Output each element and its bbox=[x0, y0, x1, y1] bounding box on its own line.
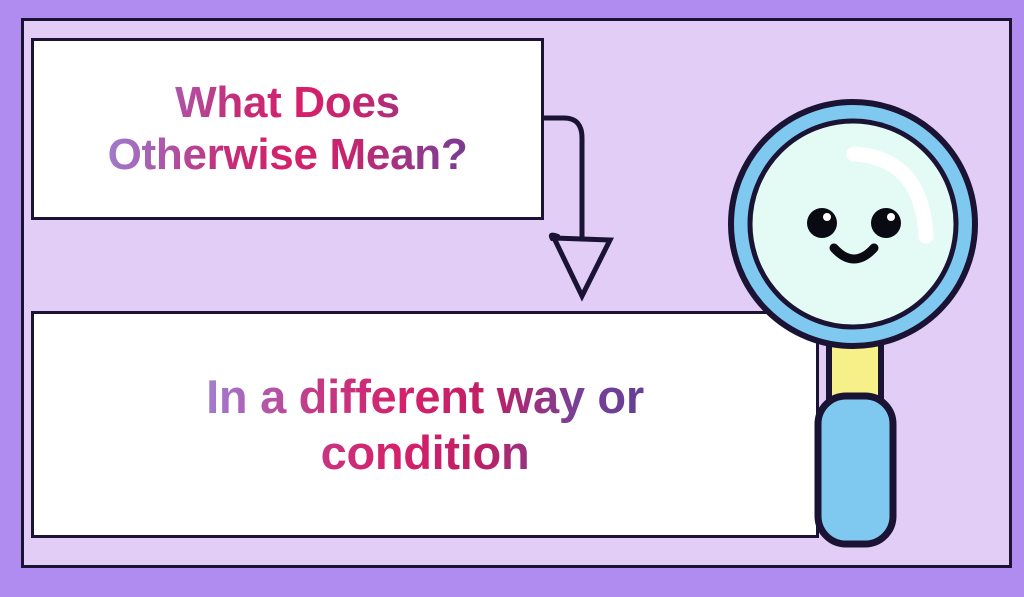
answer-card: In a different way or condition bbox=[31, 311, 819, 538]
question-line-2: Otherwise Mean? bbox=[108, 130, 468, 179]
infographic-canvas: In a different way or condition What Doe… bbox=[0, 0, 1024, 597]
right-eye-icon bbox=[871, 208, 901, 238]
arrow-head bbox=[554, 238, 610, 296]
handle-grip bbox=[818, 396, 893, 544]
left-eye-icon bbox=[807, 208, 837, 238]
magnifying-glass-smiling-face-icon bbox=[726, 96, 988, 548]
question-card: What Does Otherwise Mean? bbox=[31, 38, 544, 220]
right-eye-highlight bbox=[887, 213, 895, 221]
answer-line-1: In a different way or bbox=[206, 370, 644, 423]
answer-text: In a different way or condition bbox=[192, 369, 658, 480]
curved-down-arrow-icon bbox=[528, 100, 648, 300]
left-eye-highlight bbox=[823, 213, 831, 221]
question-line-1: What Does bbox=[175, 78, 400, 127]
answer-line-2: condition bbox=[321, 426, 530, 479]
question-text: What Does Otherwise Mean? bbox=[94, 77, 482, 181]
arrow-shaft bbox=[544, 118, 582, 240]
